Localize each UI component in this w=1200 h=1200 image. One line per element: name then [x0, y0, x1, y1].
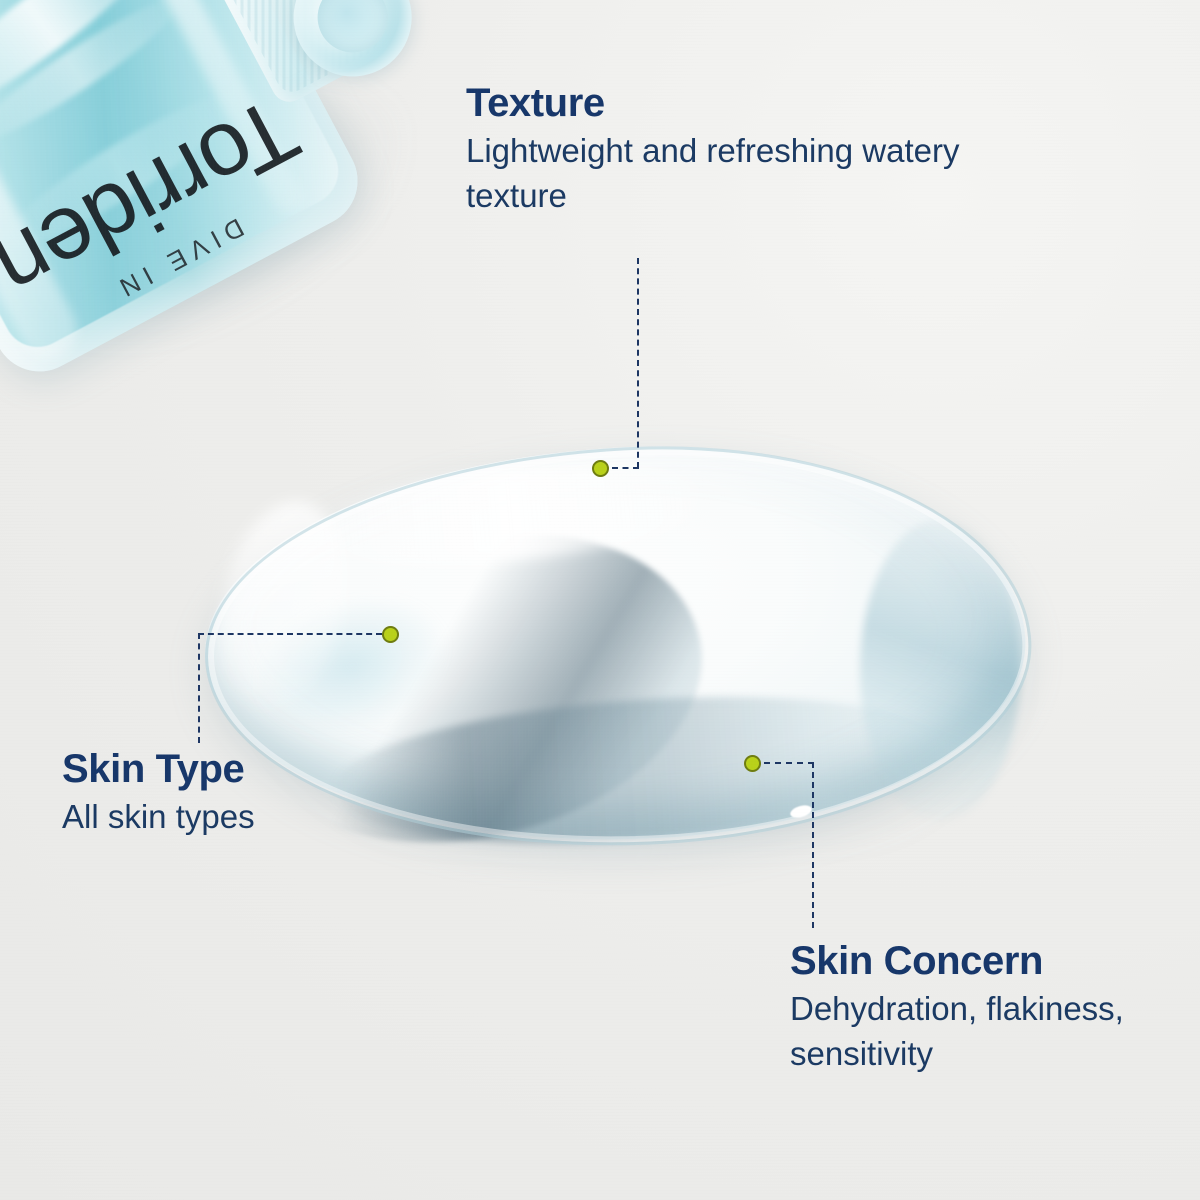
callout-skin-type-description: All skin types — [62, 795, 482, 840]
callout-texture-description: Lightweight and refreshing watery textur… — [466, 129, 986, 219]
callout-skin-concern: Skin Concern Dehydration, flakiness, sen… — [790, 940, 1190, 1077]
callout-skin-type: Skin Type All skin types — [62, 748, 482, 840]
callout-skin-concern-description: Dehydration, flakiness, sensitivity — [790, 987, 1190, 1077]
leader-line-texture-horizontal — [612, 467, 639, 469]
callout-skin-concern-title: Skin Concern — [790, 940, 1190, 983]
infographic-canvas: DIVE IN Torriden Texture Lightweight and… — [0, 0, 1200, 1200]
marker-dot-texture[interactable] — [592, 460, 609, 477]
callout-texture-title: Texture — [466, 82, 986, 125]
marker-dot-skin-concern[interactable] — [744, 755, 761, 772]
leader-line-texture-vertical — [637, 258, 639, 468]
callout-skin-type-title: Skin Type — [62, 748, 482, 791]
leader-line-skin-concern-horizontal — [764, 762, 814, 764]
callout-texture: Texture Lightweight and refreshing water… — [466, 82, 986, 219]
leader-line-skin-type-horizontal — [198, 633, 382, 635]
leader-line-skin-concern-vertical — [812, 762, 814, 928]
marker-dot-skin-type[interactable] — [382, 626, 399, 643]
leader-line-skin-type-vertical — [198, 633, 200, 743]
